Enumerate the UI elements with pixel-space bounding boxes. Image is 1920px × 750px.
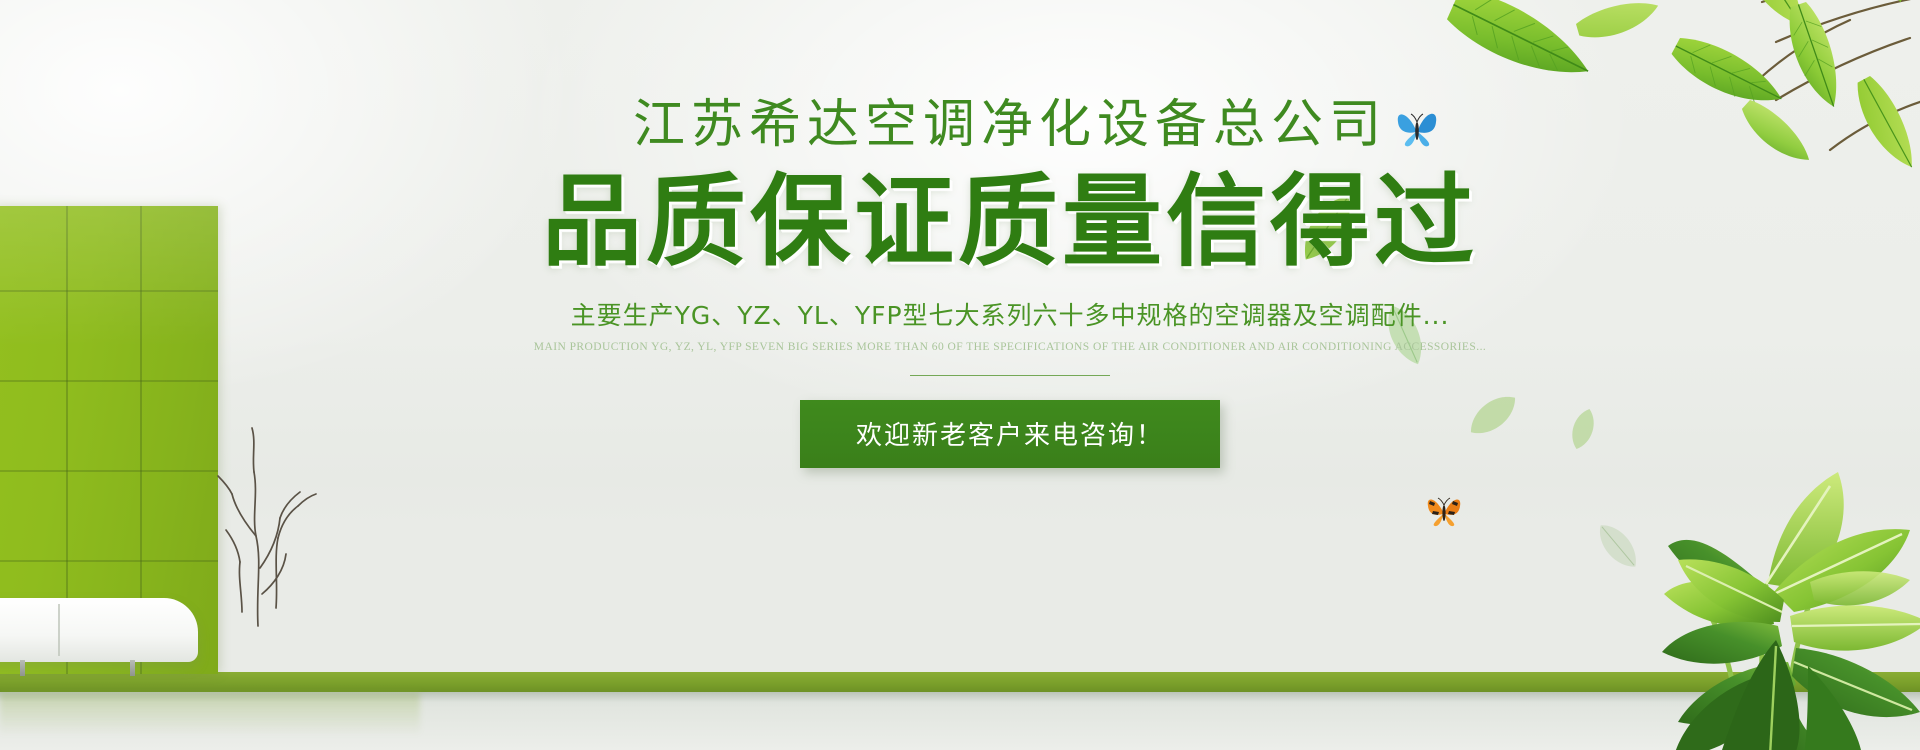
product-subtitle: 主要生产YG、YZ、YL、YFP型七大系列六十多中规格的空调器及空调配件... [571, 296, 1450, 332]
headline-slogan: 品质保证质量信得过 [542, 164, 1478, 280]
company-name: 江苏希达空调净化设备总公司 [633, 96, 1387, 154]
potted-plant [1390, 426, 1920, 750]
cta-wrapper: 欢迎新老客户来电咨询！ [800, 400, 1220, 468]
divider-rule [910, 375, 1110, 376]
contact-cta-button[interactable]: 欢迎新老客户来电咨询！ [800, 400, 1220, 468]
white-sofa [0, 598, 198, 662]
banner-content: 江苏希达空调净化设备总公司 品质保证质量信得过 主要生产YG、YZ、YL、YFP… [0, 96, 1920, 468]
floor-reflection [0, 692, 420, 750]
sofa-leg [20, 660, 25, 676]
sofa-leg [130, 660, 135, 676]
hero-banner: 江苏希达空调净化设备总公司 品质保证质量信得过 主要生产YG、YZ、YL、YFP… [0, 0, 1920, 750]
product-subtitle-english: MAIN PRODUCTION YG, YZ, YL, YFP SEVEN BI… [534, 341, 1486, 353]
sofa-seam [58, 604, 60, 656]
